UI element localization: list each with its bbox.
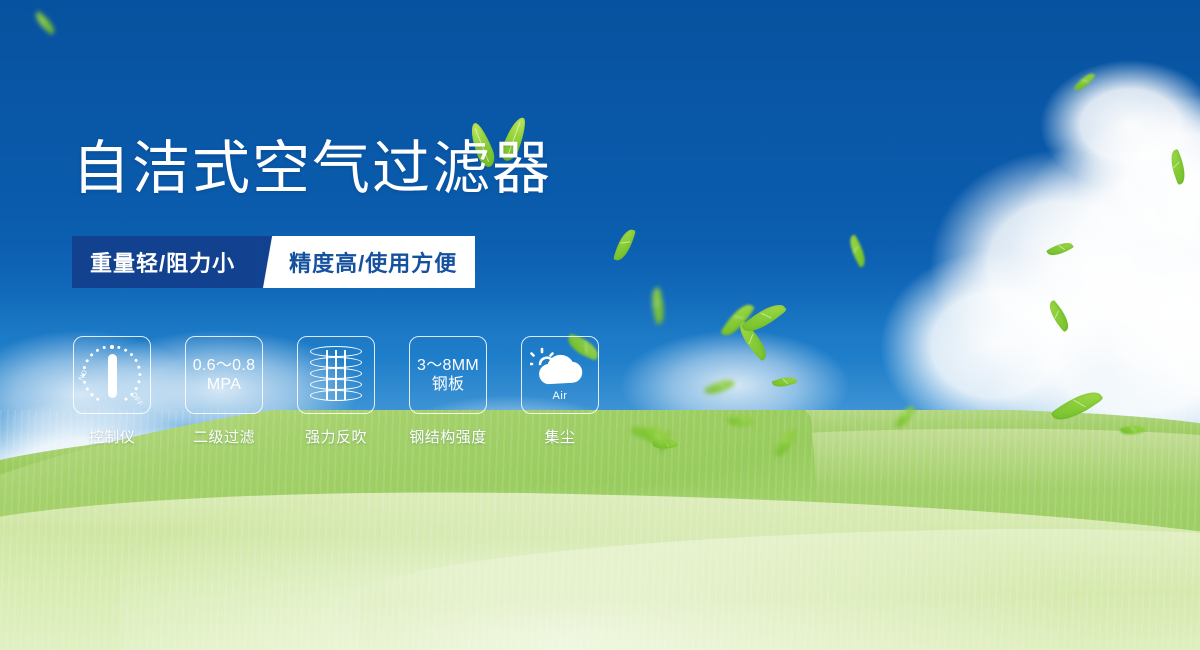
steel-thickness: 3～8MM: [417, 356, 479, 375]
feature-icon-box: 0.6～0.8 MPA: [185, 336, 263, 414]
dial-indicator: [108, 354, 117, 398]
feature-icon-box: NO OFF: [73, 336, 151, 414]
feature-item-steel-strength[interactable]: 3～8MM 钢板 钢结构强度: [408, 336, 488, 447]
subtitle-bar: 重量轻/阻力小 精度高/使用方便: [72, 236, 475, 288]
feature-item-controller[interactable]: NO OFF 控制仪: [72, 336, 152, 447]
subtitle-divider: [257, 236, 283, 288]
feature-label: 控制仪: [89, 426, 136, 447]
pressure-unit: MPA: [193, 375, 256, 394]
pressure-text-icon: 0.6～0.8 MPA: [193, 356, 256, 394]
cloud-glyph: [540, 356, 581, 383]
steel-material: 钢板: [417, 375, 479, 394]
feature-label: 二级过滤: [193, 426, 255, 447]
product-hero-banner: 自洁式空气过滤器 重量轻/阻力小 精度高/使用方便: [0, 0, 1200, 650]
feature-icon-box: 3～8MM 钢板: [409, 336, 487, 414]
feature-label: 钢结构强度: [409, 426, 487, 447]
feature-item-dust-collection[interactable]: Air 集尘: [520, 336, 600, 447]
dial-gauge-icon: NO OFF: [79, 342, 145, 408]
feature-icon-box: [297, 336, 375, 414]
feature-icon-box: Air: [521, 336, 599, 414]
feature-list: NO OFF 控制仪 0.6～0.8 MPA 二级过滤: [72, 336, 600, 447]
subtitle-right-text: 精度高/使用方便: [283, 236, 475, 288]
feature-item-secondary-filter[interactable]: 0.6～0.8 MPA 二级过滤: [184, 336, 264, 447]
feature-item-backblow[interactable]: 强力反吹: [296, 336, 376, 447]
subtitle-left-text: 重量轻/阻力小: [72, 236, 257, 288]
air-label: Air: [530, 390, 590, 402]
coil-filter-icon: [310, 346, 362, 404]
cloud-air-icon: Air: [530, 347, 590, 403]
pressure-value: 0.6～0.8: [193, 356, 256, 375]
feature-label: 集尘: [544, 426, 575, 447]
feature-label: 强力反吹: [305, 426, 367, 447]
page-title: 自洁式空气过滤器: [72, 140, 552, 198]
cloud-sun-glyph: [530, 347, 590, 389]
dial-off-label: OFF: [130, 391, 144, 407]
dial-no-label: NO: [78, 369, 89, 382]
steel-plate-text-icon: 3～8MM 钢板: [417, 356, 479, 394]
